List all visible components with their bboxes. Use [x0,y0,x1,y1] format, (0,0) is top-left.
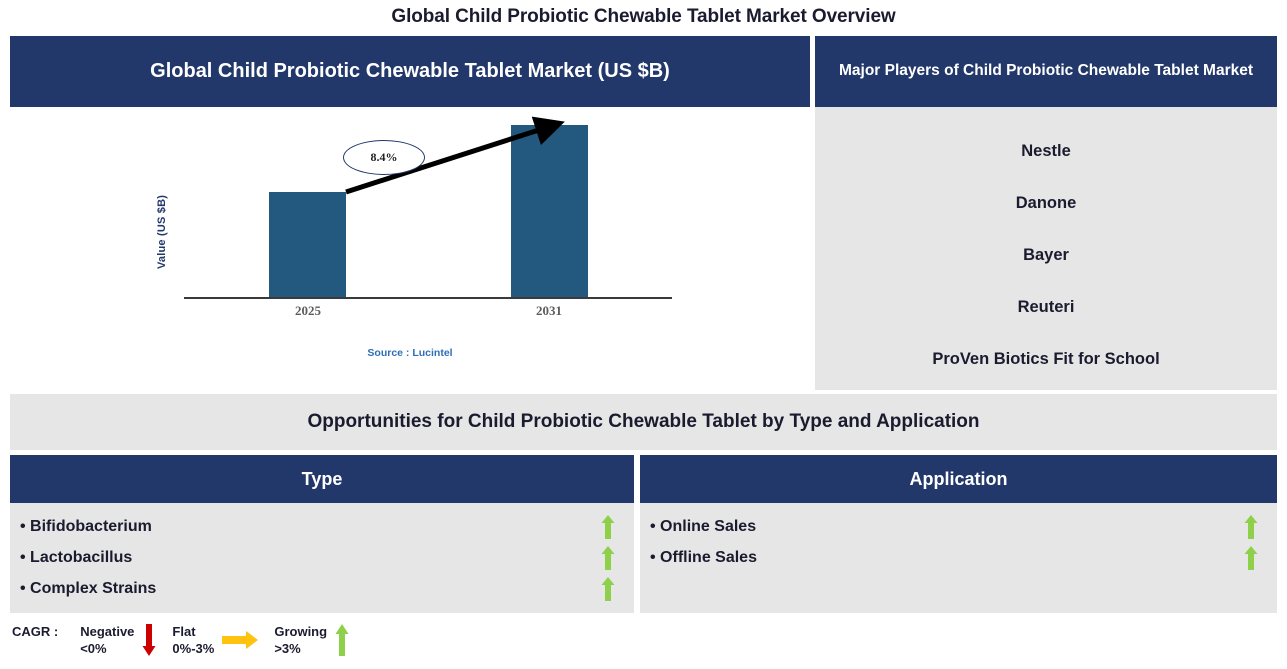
cagr-legend-title: CAGR : [12,620,58,640]
growing-up-arrow-icon [596,546,620,570]
legend-negative-label: Negative [80,624,134,639]
players-panel-title: Major Players of Child Probiotic Chewabl… [839,61,1253,82]
players-list: Nestle Danone Bayer Reuteri ProVen Bioti… [815,107,1277,385]
cagr-legend: CAGR : Negative <0% Flat 0%-3% Growing >… [12,620,365,660]
legend-entry-flat: Flat 0%-3% [172,620,266,660]
growth-arrow-icon [174,107,684,357]
growing-up-arrow-icon [1239,515,1263,539]
application-column-body: • Online Sales • Offline Sales [640,503,1277,613]
list-item: Reuteri [815,281,1277,333]
players-panel-header: Major Players of Child Probiotic Chewabl… [815,36,1277,107]
chart-body: Value (US $B) 2025 2031 8.4% Source : Lu… [10,107,810,390]
table-row: • Lactobacillus [10,542,634,573]
y-axis-label: Value (US $B) [156,195,168,269]
legend-negative-range: <0% [80,640,134,657]
bar-2031 [511,125,588,297]
legend-entry-negative: Negative <0% [80,620,164,660]
x-tick-label-2031: 2031 [499,303,599,319]
page-title: Global Child Probiotic Chewable Tablet M… [0,6,1287,28]
application-row-label: • Offline Sales [650,549,1239,567]
bar-chart-plot-area: 2025 2031 8.4% [174,107,684,357]
application-column-title: Application [910,469,1008,490]
type-row-label: • Lactobacillus [20,549,596,567]
application-row-label: • Online Sales [650,518,1239,536]
application-column-header: Application [640,455,1277,503]
cagr-value: 8.4% [371,150,398,165]
table-row: • Complex Strains [10,573,634,604]
growing-up-arrow-icon [1239,546,1263,570]
major-players-panel: Major Players of Child Probiotic Chewabl… [815,36,1277,390]
legend-entry-growing: Growing >3% [274,620,357,660]
type-column-body: • Bifidobacterium • Lactobacillus • Comp… [10,503,634,613]
chart-panel-header: Global Child Probiotic Chewable Tablet M… [10,36,810,107]
bar-2025 [269,192,346,297]
chart-source-note: Source : Lucintel [10,347,810,359]
flat-right-arrow-icon [222,620,258,660]
opportunities-banner-title: Opportunities for Child Probiotic Chewab… [307,411,979,433]
type-column-title: Type [302,469,343,490]
list-item: Nestle [815,125,1277,177]
growing-up-arrow-icon [596,577,620,601]
negative-down-arrow-icon [142,620,156,660]
opportunities-type-column: Type • Bifidobacterium • Lactobacillus •… [10,455,634,613]
table-row: • Bifidobacterium [10,511,634,542]
market-chart-panel: Global Child Probiotic Chewable Tablet M… [10,36,810,390]
legend-flat-text: Flat 0%-3% [172,620,214,657]
legend-growing-range: >3% [274,640,327,657]
opportunities-banner: Opportunities for Child Probiotic Chewab… [10,394,1277,450]
list-item: ProVen Biotics Fit for School [815,333,1277,385]
table-row: • Online Sales [640,511,1277,542]
x-tick-label-2025: 2025 [258,303,358,319]
legend-growing-text: Growing >3% [274,620,327,657]
type-row-label: • Complex Strains [20,580,596,598]
list-item: Danone [815,177,1277,229]
growing-up-arrow-icon [596,515,620,539]
table-row: • Offline Sales [640,542,1277,573]
type-column-header: Type [10,455,634,503]
growing-up-arrow-icon [335,620,349,660]
type-row-label: • Bifidobacterium [20,518,596,536]
legend-negative-text: Negative <0% [80,620,134,657]
opportunities-application-column: Application • Online Sales • Offline Sal… [640,455,1277,613]
list-item: Bayer [815,229,1277,281]
legend-flat-range: 0%-3% [172,640,214,657]
cagr-callout-bubble: 8.4% [343,140,425,175]
legend-flat-label: Flat [172,624,195,639]
x-axis-line [184,297,672,299]
legend-growing-label: Growing [274,624,327,639]
chart-panel-title: Global Child Probiotic Chewable Tablet M… [150,60,670,83]
